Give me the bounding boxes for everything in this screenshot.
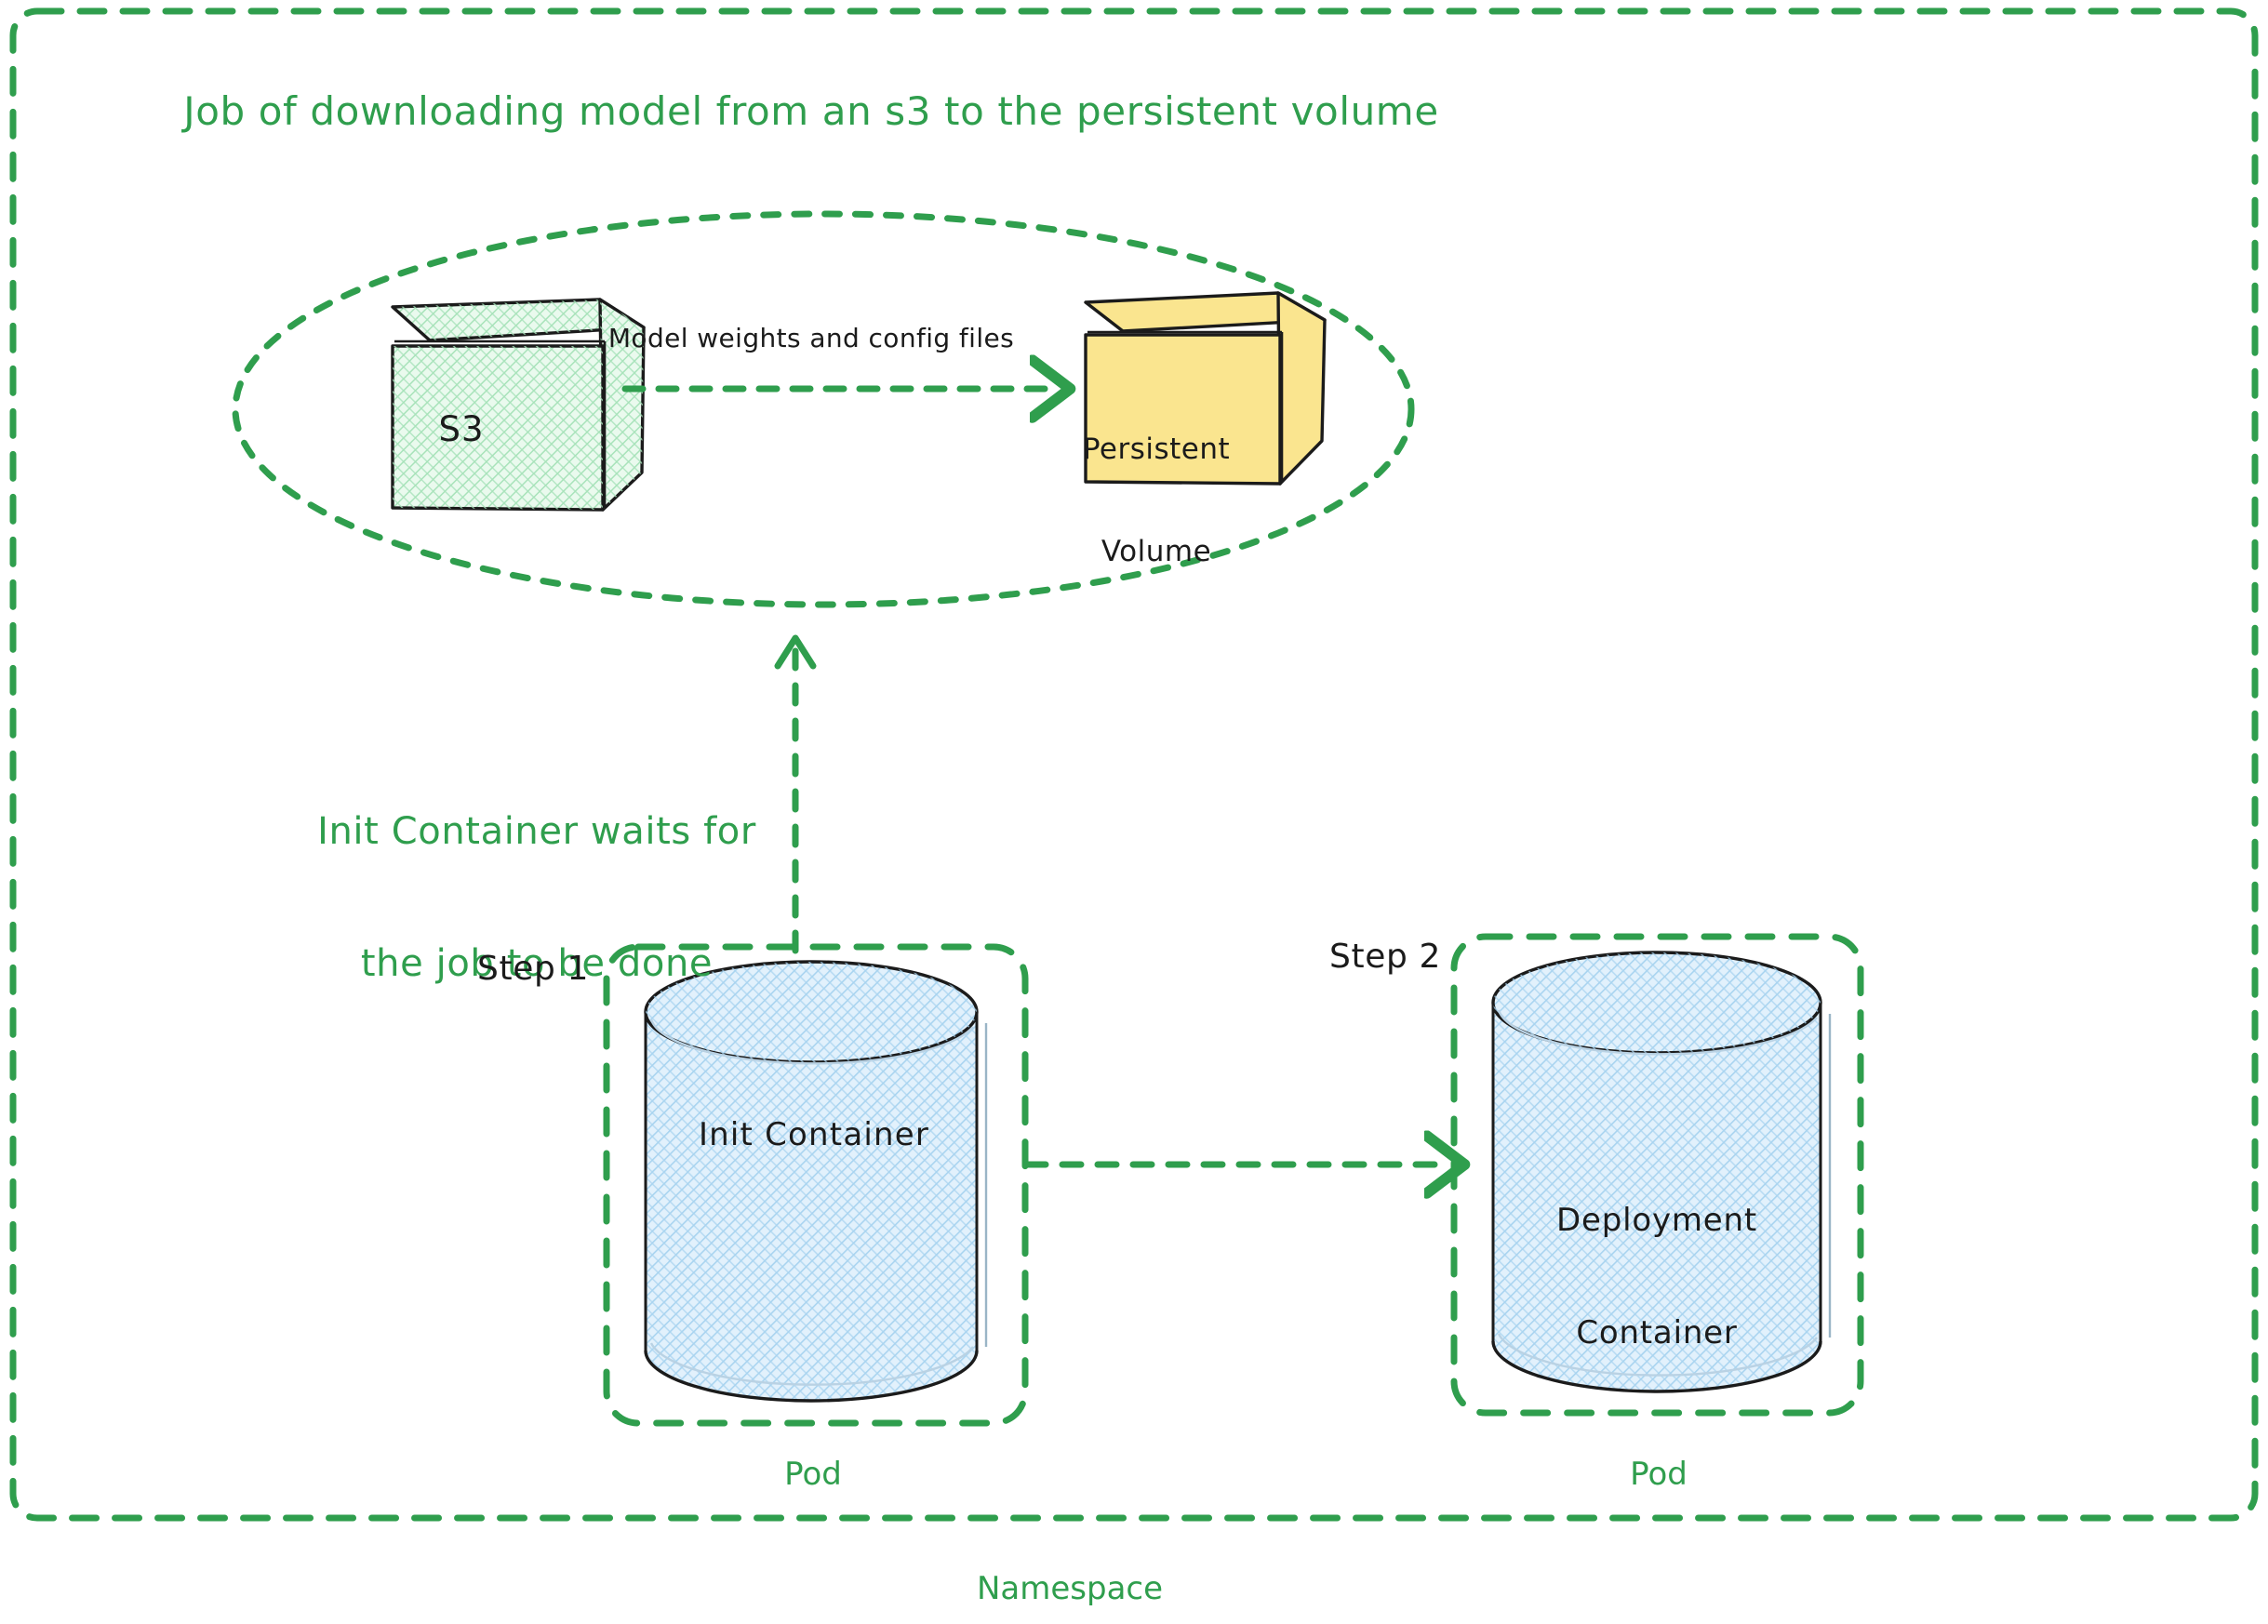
init-container-label: Init Container <box>699 1116 929 1153</box>
persistent-volume-cube-label: Persistent Volume <box>1083 365 1230 637</box>
step-1-label: Step 1 <box>477 950 589 989</box>
s3-cube-label: S3 <box>438 409 484 450</box>
init-container-wait-note-line-1: Init Container waits for <box>317 810 756 854</box>
connector-initcontainer-to-job <box>778 638 813 951</box>
deployment-container-label: Deployment Container <box>1556 1127 1757 1426</box>
namespace-label: Namespace <box>977 1570 1163 1607</box>
s3-cube <box>393 300 644 510</box>
job-group-title: Job of downloading model from an s3 to t… <box>183 88 1439 135</box>
deployment-container-label-line-2: Container <box>1556 1314 1757 1351</box>
transfer-connector-label: Model weights and config files <box>608 323 1014 353</box>
persistent-volume-label-line-2: Volume <box>1083 535 1230 569</box>
step-2-label: Step 2 <box>1329 938 1441 977</box>
init-container-wait-note: Init Container waits for the job to be d… <box>317 723 756 1074</box>
pod-2-label: Pod <box>1630 1456 1688 1493</box>
deployment-container-label-line-1: Deployment <box>1556 1202 1757 1239</box>
persistent-volume-label-line-1: Persistent <box>1083 433 1230 467</box>
diagram-canvas: Job of downloading model from an s3 to t… <box>0 0 2268 1624</box>
pod-1-label: Pod <box>784 1456 842 1493</box>
